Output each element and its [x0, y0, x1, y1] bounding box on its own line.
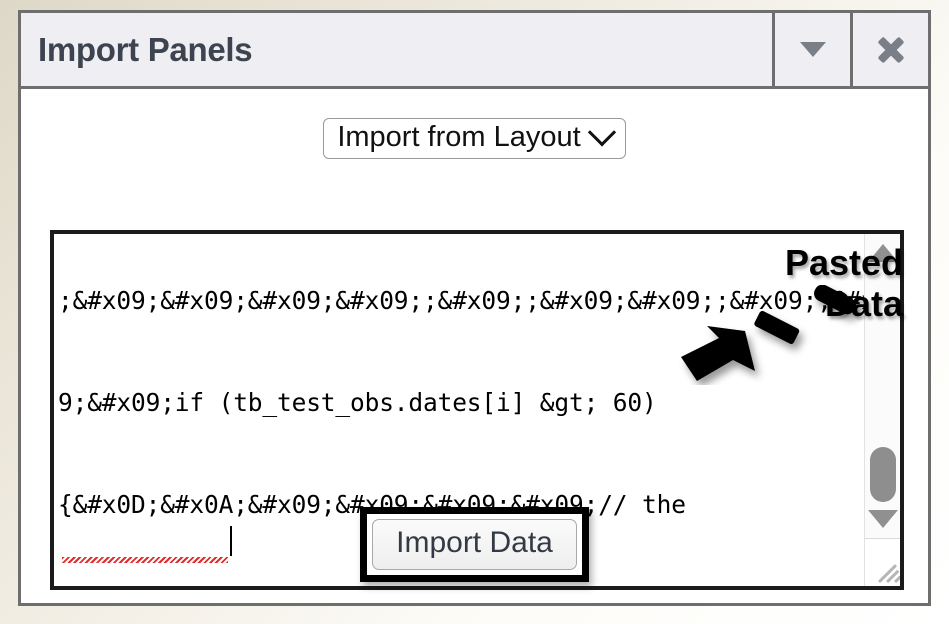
dialog-collapse-button[interactable] — [772, 13, 850, 86]
import-data-button[interactable]: Import Data — [372, 519, 577, 570]
scrollbar-thumb[interactable] — [870, 447, 896, 502]
dialog-titlebar: Import Panels — [21, 13, 928, 89]
chevron-down-icon — [800, 42, 826, 57]
import-panels-dialog: Import Panels Import from Layout ;&#x09;… — [18, 10, 931, 606]
chevron-down-icon — [588, 118, 616, 146]
scroll-up-arrow-icon[interactable] — [868, 244, 898, 262]
dialog-close-button[interactable] — [850, 13, 928, 86]
close-icon — [876, 35, 906, 65]
import-source-row: Import from Layout — [21, 118, 928, 159]
annotation-highlight-box: Import Data — [360, 507, 589, 582]
submit-row: Import Data — [21, 507, 928, 582]
dialog-body: Import from Layout ;&#x09;&#x09;&#x09;&#… — [21, 89, 928, 603]
dialog-title: Import Panels — [21, 13, 772, 86]
text-line: 9;&#x09;if (tb_test_obs.dates[i] &gt; 60… — [58, 386, 864, 420]
import-source-value: Import from Layout — [337, 121, 580, 154]
import-source-select[interactable]: Import from Layout — [323, 118, 625, 159]
text-line: ;&#x09;&#x09;&#x09;&#x09;;&#x09;;&#x09;&… — [58, 284, 864, 318]
